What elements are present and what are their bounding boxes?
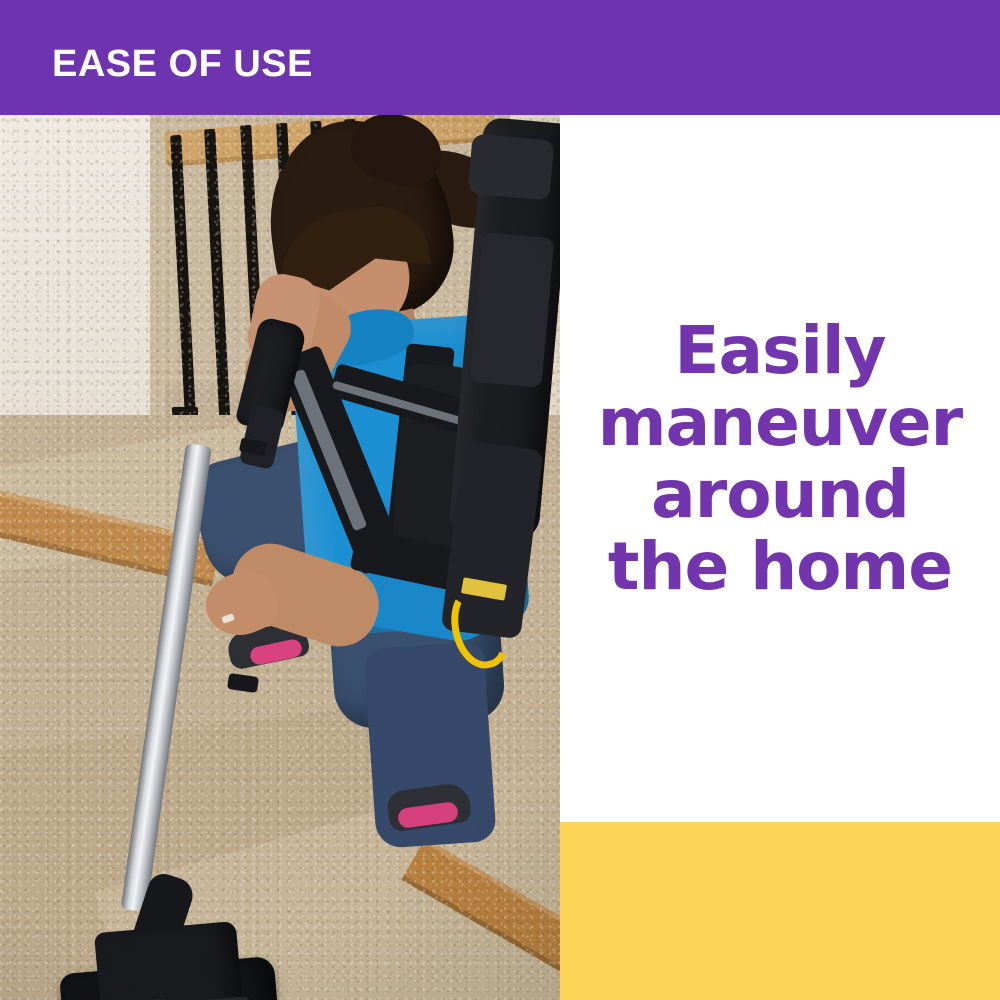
headline-line-4: the home <box>560 531 1000 603</box>
headline-line-3: around <box>560 459 1000 531</box>
headline-line-1: Easily <box>560 315 1000 387</box>
header-bar: EASE OF USE <box>0 0 1000 115</box>
headline-line-2: maneuver <box>560 387 1000 459</box>
yellow-accent-block <box>560 822 1000 1000</box>
product-photo <box>0 115 560 1000</box>
promo-card: EASE OF USE <box>0 0 1000 1000</box>
headline: Easily maneuver around the home <box>560 315 1000 603</box>
page-title: EASE OF USE <box>52 42 313 86</box>
photo-vignette <box>0 115 560 1000</box>
